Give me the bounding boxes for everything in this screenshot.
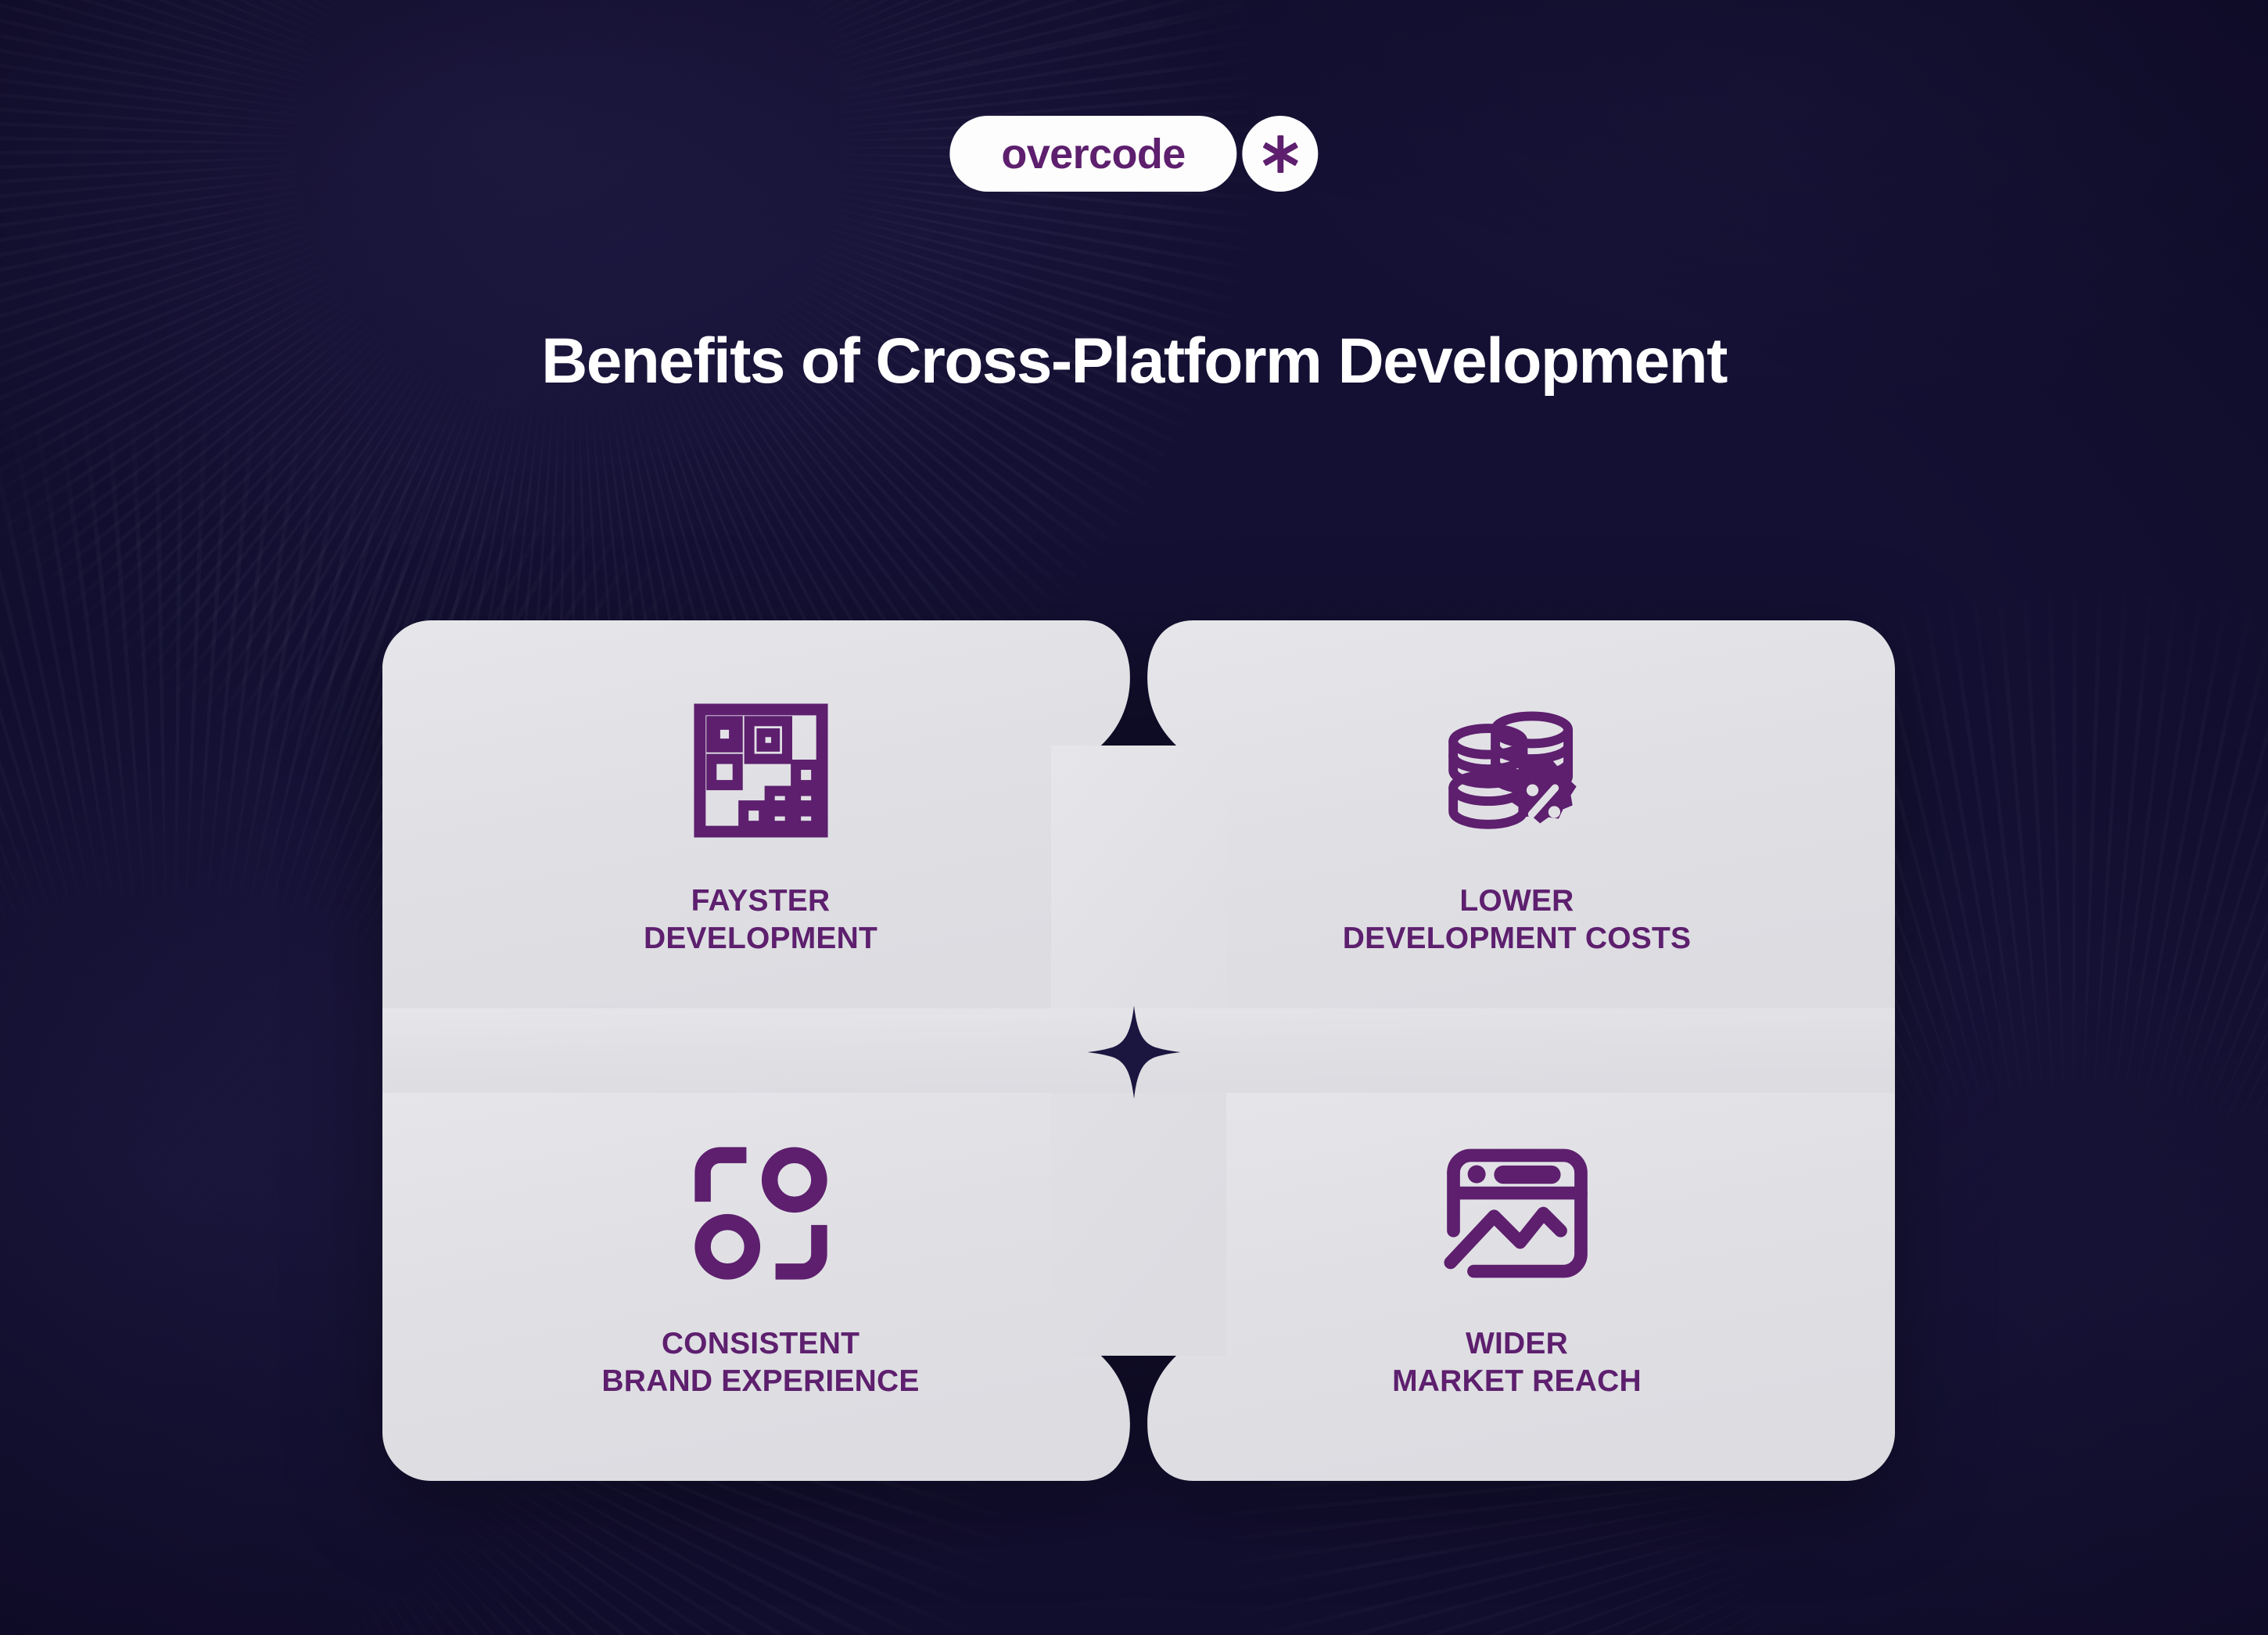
slide-canvas: overcode Benefits of Cross-Platform Deve… [0,0,2268,1635]
benefit-card-label: LOWER DEVELOPMENT COSTS [1343,882,1691,957]
brand-logo-mark [1243,116,1319,192]
chart-window-icon [1439,1141,1595,1286]
benefit-card-wider-market-reach[interactable]: WIDER MARKET REACH [1139,1055,1895,1486]
brand-logo[interactable]: overcode [949,116,1318,192]
brand-corners-icon [683,1141,839,1286]
benefit-card-consistent-brand-experience[interactable]: CONSISTENT BRAND EXPERIENCE [382,1055,1139,1486]
benefit-card-label: WIDER MARKET REACH [1392,1325,1642,1400]
benefit-card-label: CONSISTENT BRAND EXPERIENCE [601,1325,919,1400]
benefit-label-line-2: BRAND EXPERIENCE [601,1363,919,1400]
benefit-label-line-1: CONSISTENT [601,1325,919,1363]
benefits-grid: FAYSTER DEVELOPMENT [382,620,1895,1481]
brand-logo-pill: overcode [949,116,1236,192]
qr-grid-icon [683,698,839,843]
page-title: Benefits of Cross-Platform Development [0,325,2268,398]
benefits-card-cluster: FAYSTER DEVELOPMENT [382,620,1895,1481]
benefit-label-line-2: DEVELOPMENT COSTS [1343,920,1691,958]
benefit-label-line-1: FAYSTER [644,882,877,920]
benefit-label-line-2: MARKET REACH [1392,1363,1642,1400]
benefit-label-line-1: LOWER [1343,882,1691,920]
benefit-label-line-1: WIDER [1392,1325,1642,1363]
benefit-label-line-2: DEVELOPMENT [644,920,877,958]
benefit-card-label: FAYSTER DEVELOPMENT [644,882,877,957]
asterisk-icon [1260,134,1301,174]
coins-percent-icon [1439,698,1595,843]
benefit-card-lower-development-costs[interactable]: LOWER DEVELOPMENT COSTS [1139,613,1895,1043]
brand-logo-wordmark: overcode [1001,133,1185,175]
benefit-card-faster-development[interactable]: FAYSTER DEVELOPMENT [382,613,1139,1043]
